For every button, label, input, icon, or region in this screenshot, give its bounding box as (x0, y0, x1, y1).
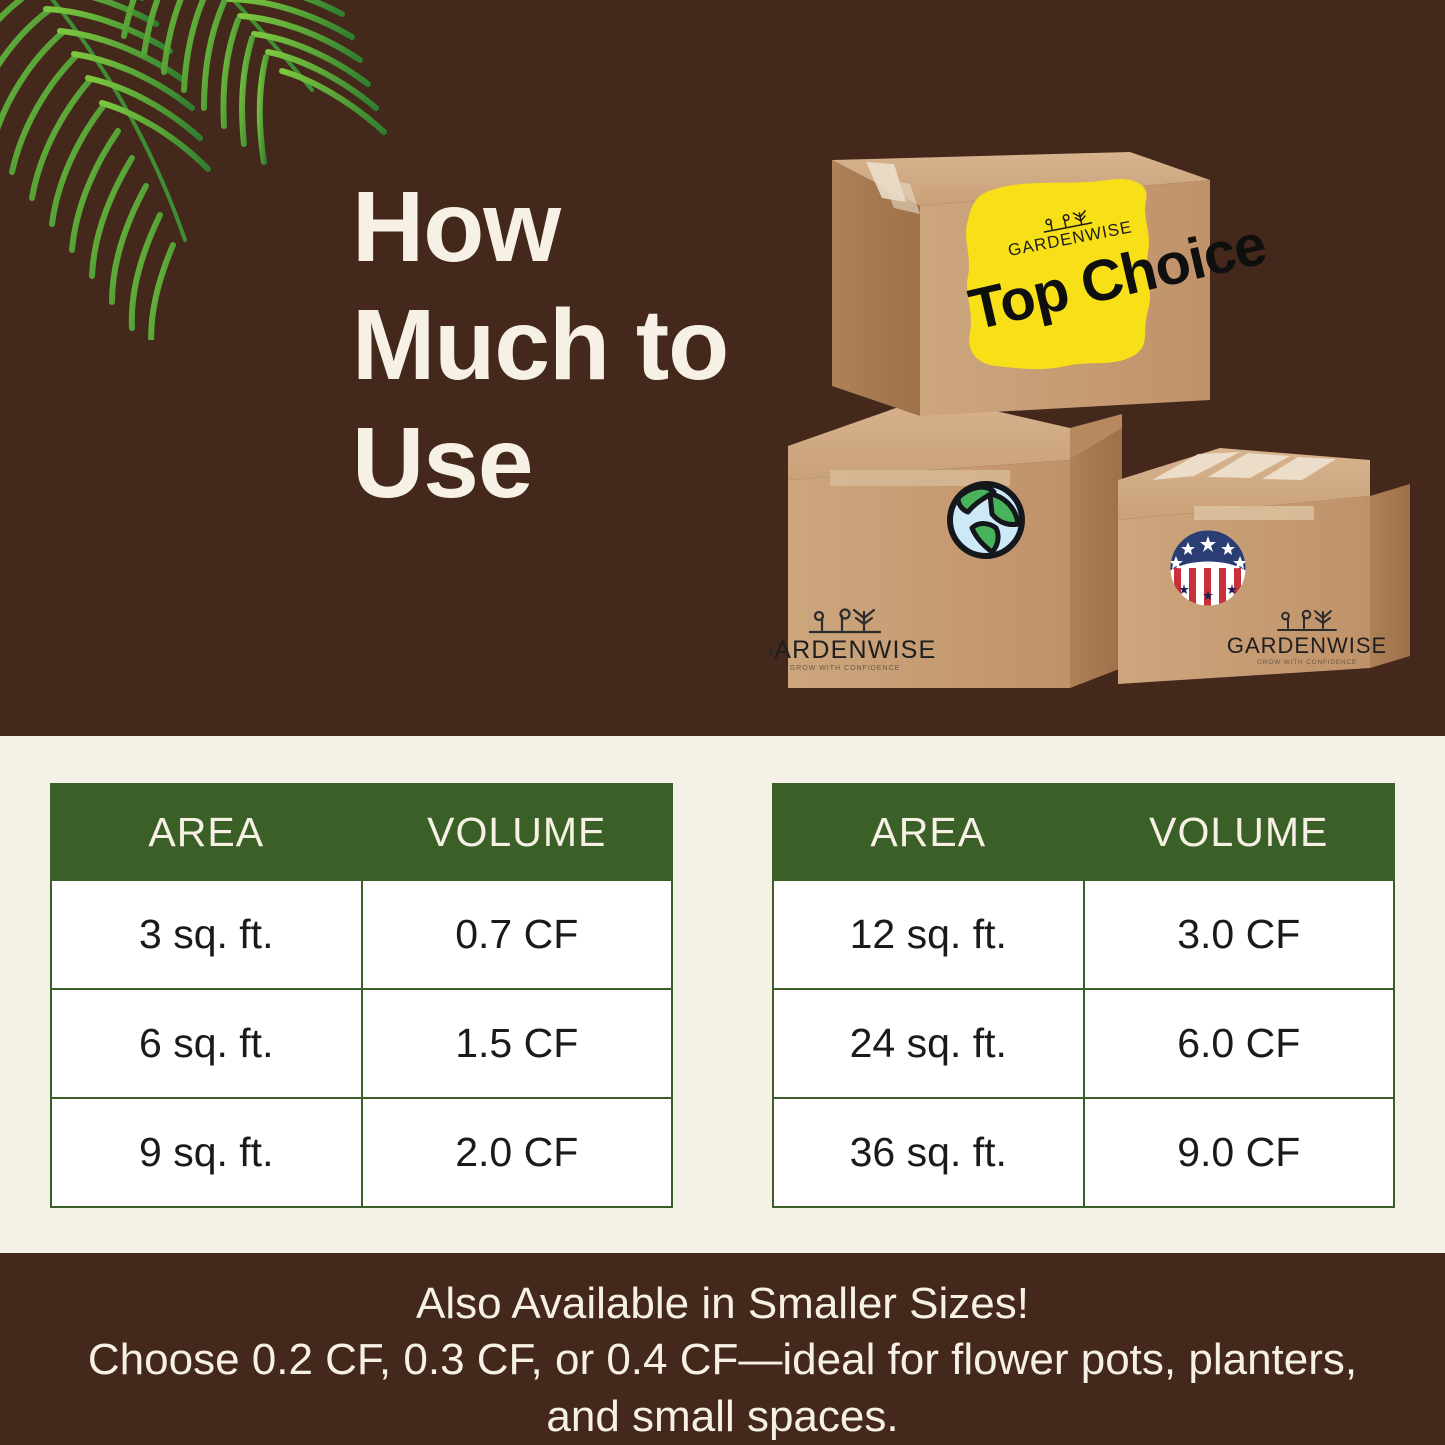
cell-volume: 2.0 CF (362, 1098, 673, 1207)
cell-volume: 0.7 CF (362, 880, 673, 989)
table-row: 36 sq. ft. 9.0 CF (773, 1098, 1394, 1207)
earth-leaf-icon (950, 484, 1022, 556)
table-row: 12 sq. ft. 3.0 CF (773, 880, 1394, 989)
cell-area: 12 sq. ft. (773, 880, 1084, 989)
cell-volume: 3.0 CF (1084, 880, 1395, 989)
cell-volume: 9.0 CF (1084, 1098, 1395, 1207)
page-title: How Much to Use (352, 168, 772, 522)
footer-line-3: and small spaces. (0, 1389, 1445, 1445)
cell-area: 36 sq. ft. (773, 1098, 1084, 1207)
cell-area: 9 sq. ft. (51, 1098, 362, 1207)
column-header-area: AREA (51, 784, 362, 880)
svg-text:GROW WITH CONFIDENCE: GROW WITH CONFIDENCE (790, 665, 901, 672)
table-header-row: AREA VOLUME (51, 784, 672, 880)
cell-volume: 1.5 CF (362, 989, 673, 1098)
table-header-row: AREA VOLUME (773, 784, 1394, 880)
table-row: 9 sq. ft. 2.0 CF (51, 1098, 672, 1207)
column-header-volume: VOLUME (362, 784, 673, 880)
column-header-volume: VOLUME (1084, 784, 1395, 880)
box-flag: GARDENWISE GROW WITH CONFIDENCE (1118, 448, 1410, 684)
footer-line-1: Also Available in Smaller Sizes! (0, 1276, 1445, 1332)
title-line-3: Use (352, 404, 772, 522)
usage-table-left: AREA VOLUME 3 sq. ft. 0.7 CF 6 sq. ft. 1… (50, 783, 673, 1208)
cell-volume: 6.0 CF (1084, 989, 1395, 1098)
poster-root: How Much to Use (0, 0, 1445, 1445)
svg-text:GROW WITH CONFIDENCE: GROW WITH CONFIDENCE (1257, 659, 1357, 666)
svg-text:GARDENWISE: GARDENWISE (770, 636, 936, 664)
usage-table-right: AREA VOLUME 12 sq. ft. 3.0 CF 24 sq. ft.… (772, 783, 1395, 1208)
svg-text:GARDENWISE: GARDENWISE (1227, 633, 1387, 658)
title-line-2: Much to (352, 286, 772, 404)
cell-area: 24 sq. ft. (773, 989, 1084, 1098)
column-header-area: AREA (773, 784, 1084, 880)
table-row: 24 sq. ft. 6.0 CF (773, 989, 1394, 1098)
box-eco: GARDENWISE GROW WITH CONFIDENCE (770, 396, 1122, 688)
title-line-1: How (352, 168, 772, 286)
box-top-choice: GARDENWISE Top Choice (832, 152, 1272, 416)
cell-area: 3 sq. ft. (51, 880, 362, 989)
table-row: 6 sq. ft. 1.5 CF (51, 989, 672, 1098)
cell-area: 6 sq. ft. (51, 989, 362, 1098)
footer-line-2: Choose 0.2 CF, 0.3 CF, or 0.4 CF—ideal f… (0, 1332, 1445, 1388)
product-boxes-image: GARDENWISE GROW WITH CONFIDENCE (770, 128, 1410, 688)
table-row: 3 sq. ft. 0.7 CF (51, 880, 672, 989)
footer-note: Also Available in Smaller Sizes! Choose … (0, 1276, 1445, 1445)
